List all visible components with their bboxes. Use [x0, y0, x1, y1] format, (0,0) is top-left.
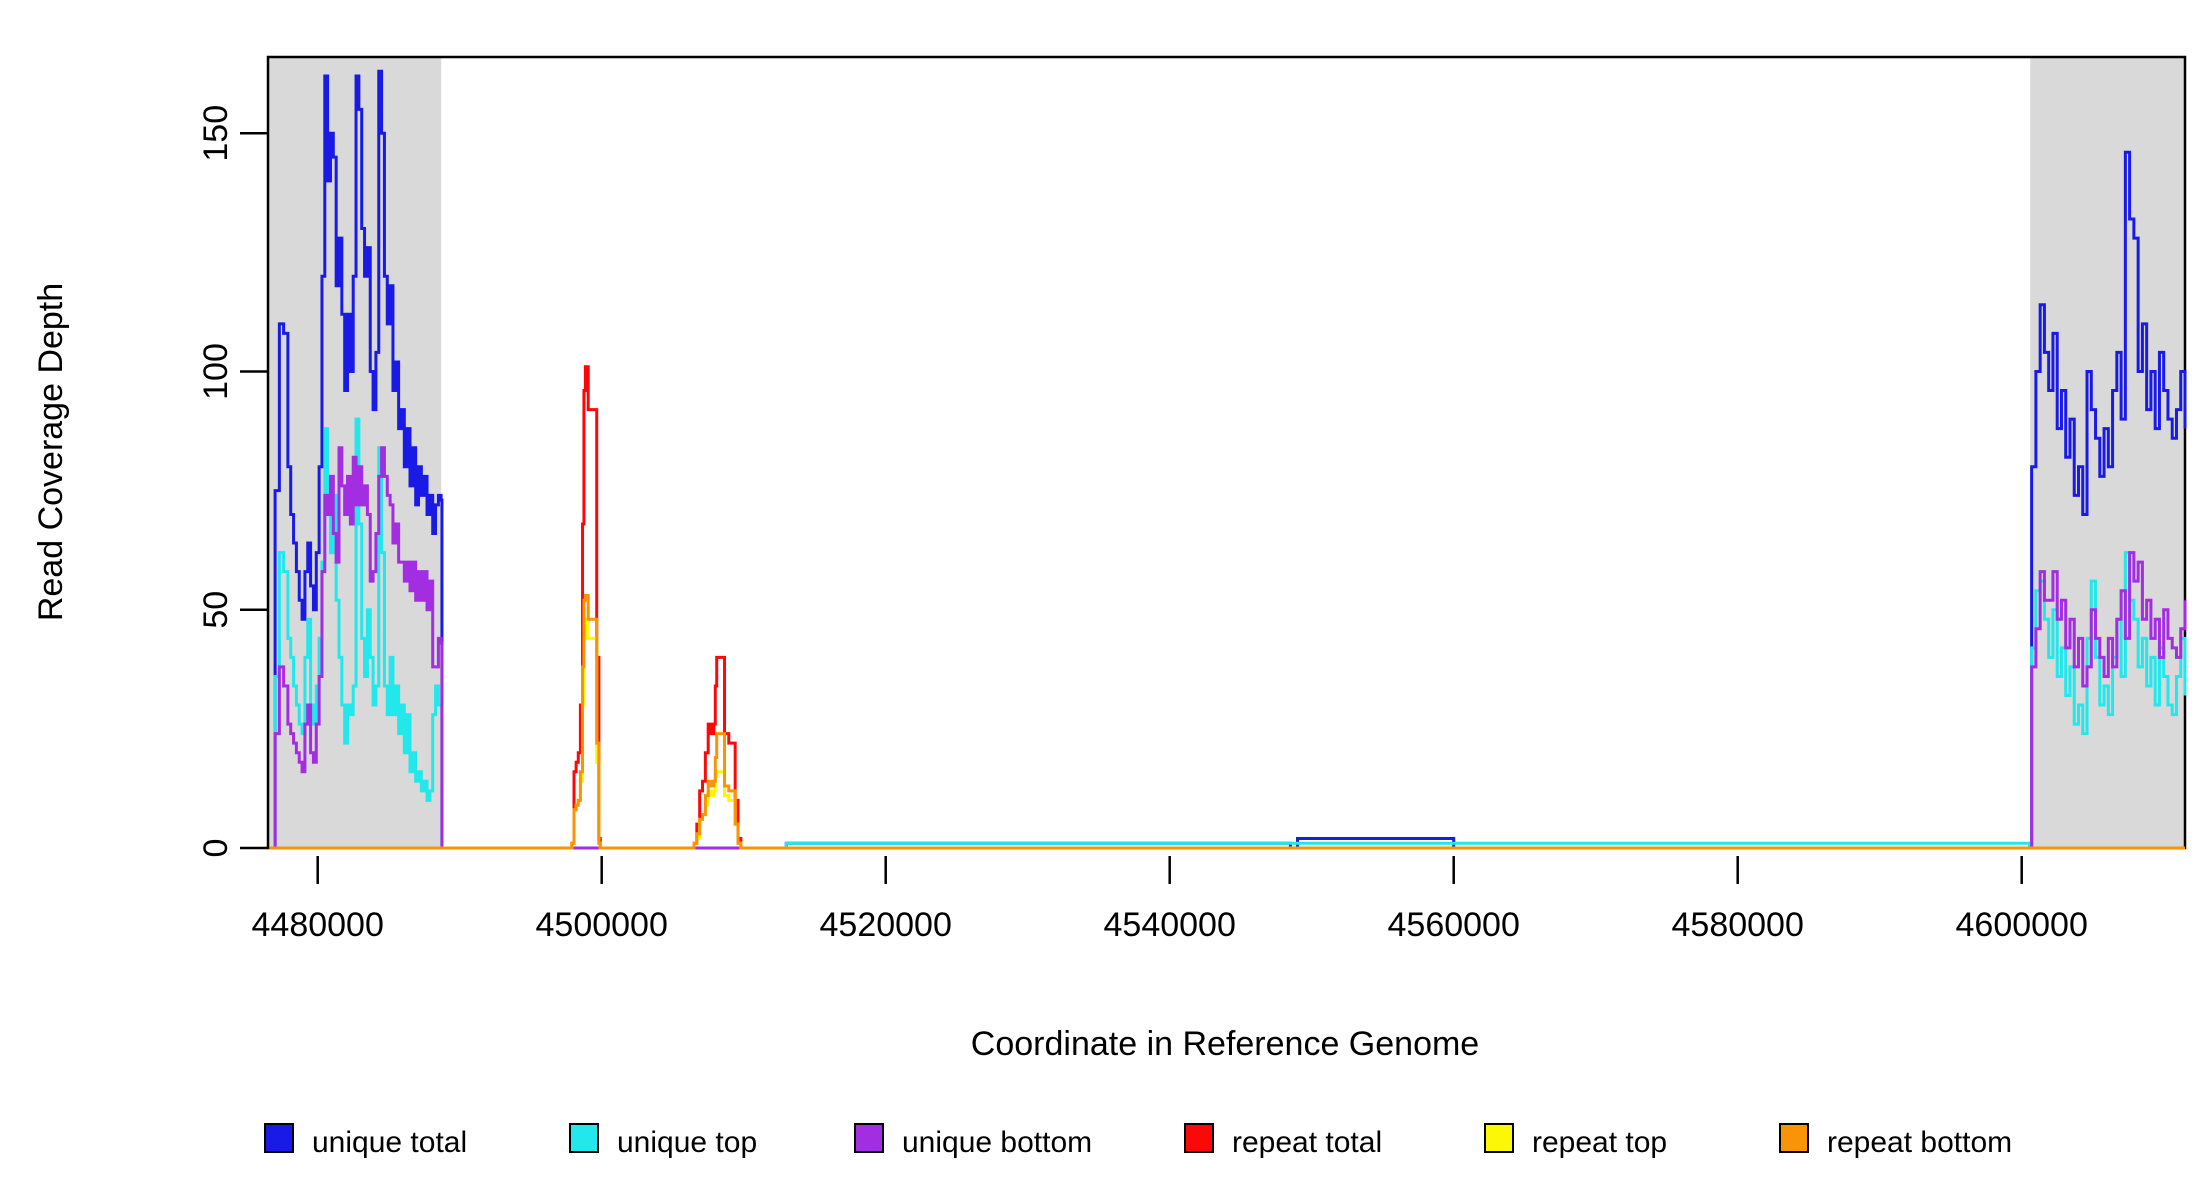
y-tick-label: 0: [197, 839, 235, 858]
x-tick-label: 4580000: [1672, 906, 1804, 944]
series-repeat_bottom: [269, 595, 2185, 848]
x-axis: 4480000450000045200004540000456000045800…: [252, 856, 2088, 944]
plot-canvas: 050100150 448000045000004520000454000045…: [0, 0, 2200, 1200]
legend: unique totalunique topunique bottomrepea…: [265, 1124, 2012, 1159]
y-tick-label: 150: [197, 105, 235, 162]
legend-label-1: unique top: [617, 1126, 757, 1159]
data-series-group: [269, 71, 2185, 848]
x-tick-label: 4600000: [1956, 906, 2088, 944]
y-axis-title: Read Coverage Depth: [32, 283, 70, 621]
legend-swatch-2: [855, 1124, 883, 1152]
y-tick-label: 100: [197, 343, 235, 400]
legend-label-2: unique bottom: [902, 1126, 1092, 1159]
x-tick-label: 4480000: [252, 906, 384, 944]
y-tick-label: 50: [197, 591, 235, 629]
shaded-regions: [268, 57, 2185, 848]
legend-label-3: repeat total: [1232, 1126, 1382, 1159]
plot-border: [268, 57, 2185, 848]
x-tick-label: 4540000: [1104, 906, 1236, 944]
series-unique_total: [269, 71, 2185, 848]
x-tick-label: 4560000: [1388, 906, 1520, 944]
legend-swatch-1: [570, 1124, 598, 1152]
coverage-plot-figure: 050100150 448000045000004520000454000045…: [0, 0, 2200, 1200]
legend-swatch-3: [1185, 1124, 1213, 1152]
legend-label-0: unique total: [312, 1126, 467, 1159]
legend-label-5: repeat bottom: [1827, 1126, 2012, 1159]
legend-swatch-5: [1780, 1124, 1808, 1152]
legend-swatch-4: [1485, 1124, 1513, 1152]
series-repeat_top: [269, 619, 2185, 848]
series-repeat_total: [269, 367, 2185, 848]
legend-swatch-0: [265, 1124, 293, 1152]
legend-label-4: repeat top: [1532, 1126, 1667, 1159]
series-unique_bottom: [269, 448, 2185, 848]
x-tick-label: 4500000: [536, 906, 668, 944]
x-tick-label: 4520000: [820, 906, 952, 944]
y-axis: 050100150: [197, 105, 268, 858]
coverage-chart-svg: 050100150 448000045000004520000454000045…: [0, 0, 2200, 1200]
x-axis-title: Coordinate in Reference Genome: [971, 1025, 1479, 1063]
series-unique_top: [269, 419, 2185, 848]
plot-frame: [268, 57, 2185, 848]
